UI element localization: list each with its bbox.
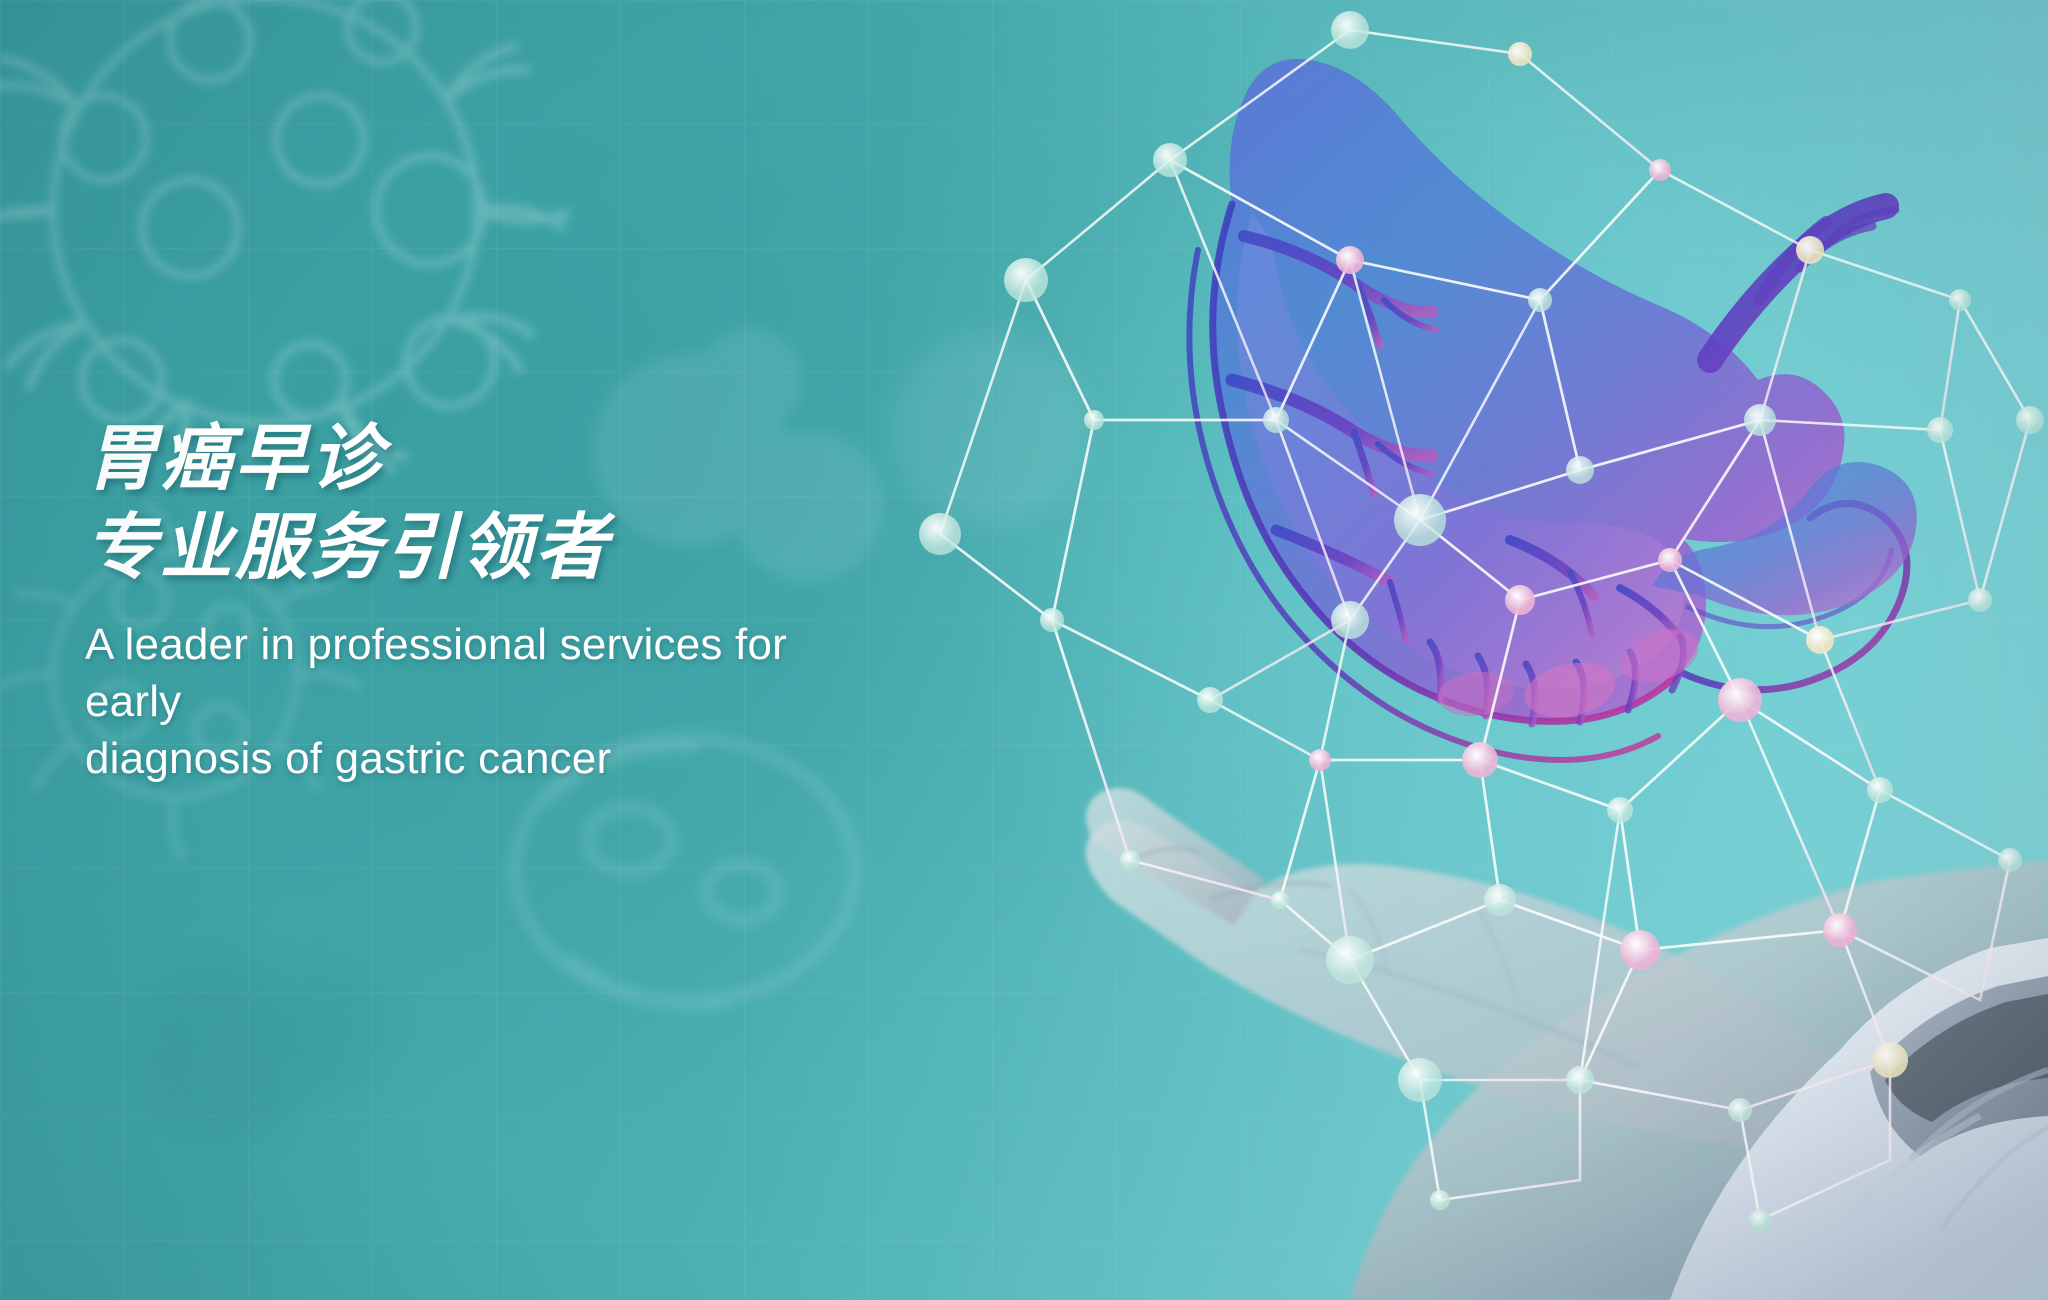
background-vignette: [0, 0, 2048, 1300]
hero-banner: 胃癌早诊 专业服务引领者 A leader in professional se…: [0, 0, 2048, 1300]
